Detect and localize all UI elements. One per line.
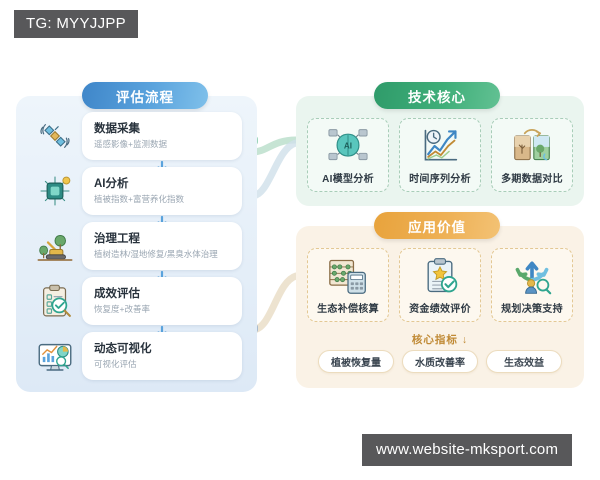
svg-text:AI: AI <box>344 142 352 151</box>
clipboard-check-icon <box>34 280 76 322</box>
value-card-label: 生态补偿核算 <box>317 300 379 315</box>
flow-step[interactable]: 数据采集 遥感影像+监测数据 <box>16 112 257 160</box>
value-card-fund-performance[interactable]: 资金绩效评价 <box>399 248 481 322</box>
tech-card-label: 多期数据对比 <box>501 170 563 185</box>
monitor-chart-icon <box>34 335 76 377</box>
value-card-eco-compensation[interactable]: 生态补偿核算 <box>307 248 389 322</box>
ai-chip-icon <box>34 170 76 212</box>
tech-card-list: AI AI模型分析 时间序列分析 <box>296 118 584 192</box>
flow-subtitle: 植被指数+富营养化指数 <box>94 193 242 205</box>
tech-card-label: 时间序列分析 <box>409 170 471 185</box>
flow-title: 数据采集 <box>94 122 242 136</box>
flow-step[interactable]: 成效评估 恢复度+改善率 <box>16 277 257 325</box>
ai-brain-icon: AI <box>326 126 370 166</box>
tech-card-multi-period[interactable]: 多期数据对比 <box>491 118 573 192</box>
watermark-bottom: www.website-mksport.com <box>362 434 572 466</box>
flow-subtitle: 恢复度+改善率 <box>94 303 242 315</box>
metric-pill[interactable]: 水质改善率 <box>402 350 478 373</box>
time-series-icon <box>418 126 462 166</box>
tech-card-label: AI模型分析 <box>322 170 374 185</box>
application-value-panel: 生态补偿核算 资金绩效评价 <box>296 226 584 388</box>
flow-subtitle: 植树造林/湿地修复/黑臭水体治理 <box>94 248 242 260</box>
metric-pill[interactable]: 生态效益 <box>486 350 562 373</box>
flow-card[interactable]: 治理工程 植树造林/湿地修复/黑臭水体治理 <box>82 222 242 270</box>
tech-core-panel: AI AI模型分析 时间序列分析 <box>296 96 584 206</box>
flow-title: 动态可视化 <box>94 342 242 356</box>
flow-subtitle: 遥感影像+监测数据 <box>94 138 242 150</box>
evaluation-process-title: 评估流程 <box>82 82 208 109</box>
flow-card[interactable]: 成效评估 恢复度+改善率 <box>82 277 242 325</box>
value-card-label: 规划决策支持 <box>501 300 563 315</box>
value-card-planning-decision[interactable]: 规划决策支持 <box>491 248 573 322</box>
abacus-calculator-icon <box>326 256 370 296</box>
flow-card[interactable]: 动态可视化 可视化评估 <box>82 332 242 380</box>
application-value-title: 应用价值 <box>374 212 500 239</box>
flow-card[interactable]: 数据采集 遥感影像+监测数据 <box>82 112 242 160</box>
flow-subtitle: 可视化评估 <box>94 358 242 370</box>
metric-pill[interactable]: 植被恢复量 <box>318 350 394 373</box>
satellite-icon <box>34 115 76 157</box>
value-card-label: 资金绩效评价 <box>409 300 471 315</box>
watermark-top: TG: MYYJJPP <box>14 10 138 38</box>
tech-core-title: 技术核心 <box>374 82 500 109</box>
flow-title: 成效评估 <box>94 287 242 301</box>
tech-card-ai-model[interactable]: AI AI模型分析 <box>307 118 389 192</box>
flow-step[interactable]: 动态可视化 可视化评估 <box>16 332 257 380</box>
flow-title: AI分析 <box>94 177 242 191</box>
clipboard-star-icon <box>418 256 462 296</box>
value-card-list: 生态补偿核算 资金绩效评价 <box>296 248 584 322</box>
flow-card[interactable]: AI分析 植被指数+富营养化指数 <box>82 167 242 215</box>
excavator-tree-icon <box>34 225 76 267</box>
flow-step[interactable]: 治理工程 植树造林/湿地修复/黑臭水体治理 <box>16 222 257 270</box>
flow-step[interactable]: AI分析 植被指数+富营养化指数 <box>16 167 257 215</box>
core-metrics-list: 植被恢复量 水质改善率 生态效益 <box>296 350 584 373</box>
core-metrics-heading: 核心指标 ↓ <box>296 332 584 347</box>
tech-card-time-series[interactable]: 时间序列分析 <box>399 118 481 192</box>
process-flow-list: 数据采集 遥感影像+监测数据 AI分析 植被指数+富营养化指数 <box>16 112 257 380</box>
compare-images-icon <box>510 126 554 166</box>
flow-title: 治理工程 <box>94 232 242 246</box>
decision-arrows-icon <box>510 256 554 296</box>
